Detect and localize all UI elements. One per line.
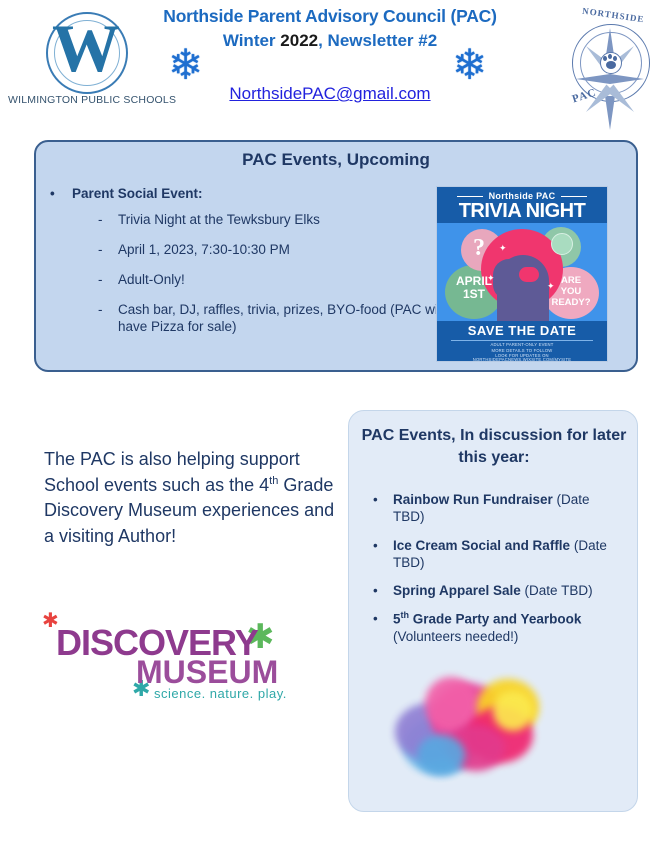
flyer-save-the-date-text: SAVE THE DATE: [437, 323, 607, 338]
list-item-ordinal-suffix: th: [401, 610, 410, 620]
list-item-title: Spring Apparel Sale: [393, 583, 521, 598]
paragraph-ordinal-suffix: th: [269, 475, 278, 487]
paragraph-part1: The PAC is also helping support School e…: [44, 449, 300, 495]
list-item: •Rainbow Run Fundraiser (Date TBD): [367, 491, 623, 526]
bullet-dot-icon: •: [373, 491, 378, 508]
discussion-events-list: •Rainbow Run Fundraiser (Date TBD) •Ice …: [367, 491, 623, 656]
trivia-night-flyer-image: Northside PAC TRIVIA NIGHT ? ✦ ✦ ✦ APRIL…: [436, 186, 608, 362]
pac-events-in-discussion-box: PAC Events, In discussion for later this…: [348, 410, 638, 812]
list-item-text: Adult-Only!: [118, 272, 185, 287]
newsletter-header: W WILMINGTON PUBLIC SCHOOLS Northside Pa…: [0, 0, 663, 130]
snowflake-icon: ❄: [168, 44, 203, 86]
list-item: - Cash bar, DJ, raffles, trivia, prizes,…: [98, 302, 468, 336]
list-item-note: (Volunteers needed!): [393, 629, 518, 644]
list-item-title: Grade Party and Yearbook: [409, 612, 581, 627]
parent-social-event-heading: •Parent Social Event:: [72, 186, 452, 201]
lightbulb-icon: [551, 233, 573, 255]
wps-w-letter: W: [46, 8, 124, 88]
subtitle-year: 2022: [280, 31, 318, 50]
pac-email-link[interactable]: NorthsidePAC@gmail.com: [120, 84, 540, 104]
list-item: •5th Grade Party and Yearbook (Volunteer…: [367, 610, 623, 645]
dash-bullet-icon: -: [98, 302, 103, 319]
flyer-fine-print: MORE DETAILS TO FOLLOW: [437, 348, 607, 353]
question-mark-icon: ?: [473, 235, 485, 262]
flyer-title-text: TRIVIA NIGHT: [437, 200, 607, 223]
discussion-box-title: PAC Events, In discussion for later this…: [359, 425, 629, 468]
paw-print-icon: [600, 52, 622, 74]
list-item: - Adult-Only!: [98, 272, 468, 289]
list-item: - Trivia Night at the Tewksbury Elks: [98, 212, 468, 229]
school-support-paragraph: The PAC is also helping support School e…: [44, 447, 344, 549]
list-item-text: Trivia Night at the Tewksbury Elks: [118, 212, 320, 227]
dash-bullet-icon: -: [98, 212, 103, 229]
snowflake-icon: ❄: [452, 44, 487, 86]
list-item-text: April 1, 2023, 7:30-10:30 PM: [118, 242, 290, 257]
parent-social-event-label: Parent Social Event:: [72, 186, 203, 201]
pac-logo-north-text: NORTHSIDE: [582, 6, 645, 25]
bullet-dot-icon: •: [373, 537, 378, 554]
flyer-fine-print: ADULT PARENT-ONLY EVENT: [437, 342, 607, 347]
list-item: •Spring Apparel Sale (Date TBD): [367, 582, 623, 599]
discovery-museum-logo: ✱ ✱ ✱ DISCOVERY MUSEUM science. nature. …: [28, 608, 318, 704]
list-item: - April 1, 2023, 7:30-10:30 PM: [98, 242, 468, 259]
pac-events-upcoming-box: PAC Events, Upcoming •Parent Social Even…: [34, 140, 638, 372]
bullet-dot-icon: •: [373, 582, 378, 599]
northside-pac-logo: NORTHSIDE PAC: [556, 8, 656, 116]
upcoming-box-title: PAC Events, Upcoming: [36, 150, 636, 170]
discovery-museum-tagline: science. nature. play.: [154, 686, 287, 701]
list-item-text: Cash bar, DJ, raffles, trivia, prizes, B…: [118, 302, 444, 334]
brain-icon: [519, 267, 539, 282]
list-item-title: Rainbow Run Fundraiser: [393, 492, 553, 507]
bullet-dot-icon: •: [373, 610, 378, 627]
flyer-ready-text: ARE YOU READY?: [543, 275, 599, 308]
list-item: •Ice Cream Social and Raffle (Date TBD): [367, 537, 623, 572]
subtitle-season: Winter: [223, 31, 280, 50]
dash-bullet-icon: -: [98, 242, 103, 259]
color-powder-splash-icon: [373, 673, 611, 801]
list-item-title: Ice Cream Social and Raffle: [393, 538, 570, 553]
list-item-note: (Date TBD): [521, 583, 593, 598]
list-item-grade-number: 5: [393, 612, 401, 627]
upcoming-event-details-list: - Trivia Night at the Tewksbury Elks - A…: [98, 212, 468, 348]
flyer-fine-print: NORTHSIDEPACNEWS.WIXSITE.COM/MYSITE: [437, 357, 607, 362]
subtitle-issue: , Newsletter #2: [318, 31, 437, 50]
dash-bullet-icon: -: [98, 272, 103, 289]
flyer-date-text: APRIL 1ST: [445, 275, 503, 301]
newsletter-title: Northside Parent Advisory Council (PAC): [120, 6, 540, 27]
bullet-dot-icon: •: [50, 186, 55, 201]
